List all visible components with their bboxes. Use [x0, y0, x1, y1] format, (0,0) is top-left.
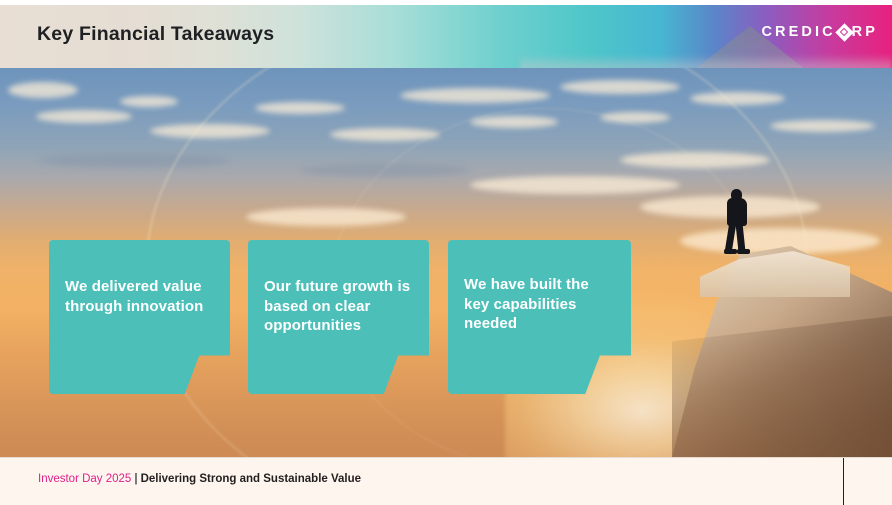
takeaway-card-3-text: We have built the key capabilities neede…	[464, 275, 617, 334]
cloud	[120, 96, 178, 107]
credicorp-logo: CREDIC RP	[761, 23, 878, 41]
cloud	[770, 120, 875, 132]
diamond-icon	[838, 26, 851, 39]
footer-tagline: Delivering Strong and Sustainable Value	[141, 473, 361, 485]
footer-vertical-divider	[843, 458, 844, 505]
footer-caption: Investor Day 2025|Delivering Strong and …	[38, 473, 361, 485]
background-photo: We delivered value through innovation Ou…	[0, 68, 892, 457]
page-title: Key Financial Takeaways	[37, 23, 274, 46]
slide: Key Financial Takeaways CREDIC RP	[0, 0, 892, 505]
logo-text-after: RP	[852, 25, 878, 40]
cloud	[36, 110, 132, 123]
takeaway-card-2-text: Our future growth is based on clear oppo…	[264, 277, 415, 336]
takeaway-card-1-text: We delivered value through innovation	[65, 277, 216, 316]
slide-header: Key Financial Takeaways CREDIC RP	[0, 0, 892, 68]
header-haze	[520, 54, 892, 68]
person-on-cliff-icon	[722, 189, 756, 253]
footer-event-name: Investor Day 2025	[38, 473, 131, 485]
footer-rule	[0, 457, 892, 458]
slide-footer: Investor Day 2025|Delivering Strong and …	[0, 457, 892, 505]
header-top-strip	[0, 0, 892, 5]
footer-separator: |	[134, 473, 137, 485]
logo-text-before: CREDIC	[761, 25, 835, 40]
cloud	[8, 82, 78, 98]
